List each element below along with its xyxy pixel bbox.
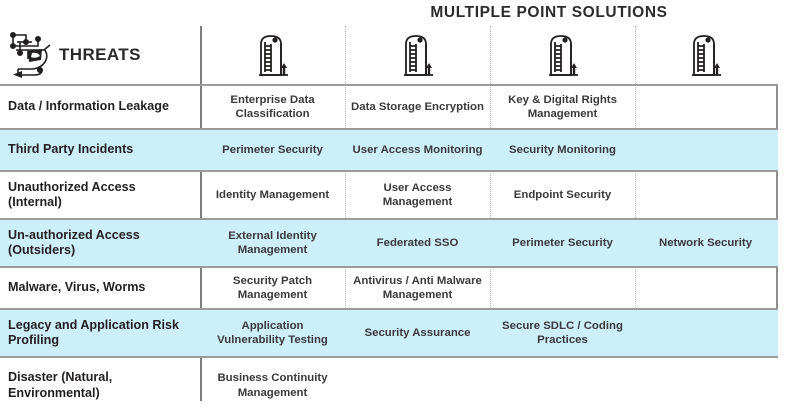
- page-title: MULTIPLE POINT SOLUTIONS: [404, 4, 694, 22]
- solution-cell[interactable]: Enterprise Data Classification: [200, 86, 345, 128]
- solution-label: Security Monitoring: [496, 143, 629, 157]
- solution-cell[interactable]: Security Patch Management: [200, 268, 345, 308]
- solution-column-header-4: [635, 26, 776, 84]
- solution-cell[interactable]: Federated SSO: [345, 220, 490, 266]
- solution-cell: [635, 86, 776, 128]
- matrix-body: Data / Information LeakageEnterprise Dat…: [0, 84, 778, 413]
- table-row[interactable]: Malware, Virus, WormsSecurity Patch Mana…: [0, 266, 778, 308]
- solution-cell[interactable]: Endpoint Security: [490, 172, 635, 218]
- threat-label: Data / Information Leakage: [8, 99, 169, 114]
- solution-cell[interactable]: User Access Management: [345, 172, 490, 218]
- table-row[interactable]: Un-authorized Access (Outsiders)External…: [0, 218, 778, 266]
- solution-label: User Access Management: [351, 181, 484, 209]
- solution-label: Identity Management: [206, 188, 339, 202]
- threat-cell: Un-authorized Access (Outsiders): [0, 220, 200, 266]
- solution-cell[interactable]: Application Vulnerability Testing: [200, 310, 345, 356]
- solution-cell[interactable]: Data Storage Encryption: [345, 86, 490, 128]
- solution-label: Perimeter Security: [206, 143, 339, 157]
- solution-cell[interactable]: Security Assurance: [345, 310, 490, 356]
- solution-label: Key & Digital Rights Management: [496, 93, 629, 121]
- silo-icon: [401, 32, 435, 78]
- solution-cell: [635, 310, 776, 356]
- solution-cell[interactable]: User Access Monitoring: [345, 130, 490, 170]
- solution-label: Application Vulnerability Testing: [206, 319, 339, 347]
- solution-label: Security Patch Management: [206, 274, 339, 302]
- solution-cell[interactable]: Business Continuity Management: [200, 358, 345, 413]
- solution-cell[interactable]: Secure SDLC / Coding Practices: [490, 310, 635, 356]
- matrix-header-row: THREATS: [0, 26, 778, 84]
- threat-cell: Legacy and Application Risk Profiling: [0, 310, 200, 356]
- table-row[interactable]: Data / Information LeakageEnterprise Dat…: [0, 84, 778, 128]
- threat-cell: Third Party Incidents: [0, 130, 200, 170]
- solution-cell: [490, 358, 635, 413]
- threats-header-label: THREATS: [59, 45, 141, 65]
- matrix-bottom-divider: [0, 356, 778, 358]
- solution-label: External Identity Management: [206, 229, 339, 257]
- solution-label: Secure SDLC / Coding Practices: [496, 319, 629, 347]
- solution-cell: [635, 358, 776, 413]
- solution-cell[interactable]: Security Monitoring: [490, 130, 635, 170]
- table-row[interactable]: Legacy and Application Risk ProfilingApp…: [0, 308, 778, 356]
- threat-cell: Malware, Virus, Worms: [0, 268, 200, 308]
- solution-label: Antivirus / Anti Malware Management: [351, 274, 484, 302]
- silo-icon: [689, 32, 723, 78]
- threat-label: Un-authorized Access (Outsiders): [8, 228, 192, 259]
- solution-cell[interactable]: Key & Digital Rights Management: [490, 86, 635, 128]
- solution-cell[interactable]: Antivirus / Anti Malware Management: [345, 268, 490, 308]
- threat-label: Malware, Virus, Worms: [8, 280, 145, 295]
- solution-column-header-3: [490, 26, 635, 84]
- threats-header-cell: THREATS: [0, 26, 200, 84]
- threat-cell: Disaster (Natural, Environmental): [0, 358, 200, 413]
- solution-cell[interactable]: Network Security: [635, 220, 776, 266]
- solution-label: Business Continuity Management: [206, 371, 339, 399]
- table-row[interactable]: Third Party IncidentsPerimeter SecurityU…: [0, 128, 778, 170]
- threat-label: Legacy and Application Risk Profiling: [8, 318, 192, 349]
- table-row[interactable]: Disaster (Natural, Environmental)Busines…: [0, 356, 778, 413]
- threat-label: Third Party Incidents: [8, 142, 133, 157]
- solution-label: User Access Monitoring: [351, 143, 484, 157]
- silo-icon: [546, 32, 580, 78]
- solution-cell[interactable]: Identity Management: [200, 172, 345, 218]
- solution-column-header-1: [200, 26, 345, 84]
- solution-cell[interactable]: External Identity Management: [200, 220, 345, 266]
- threat-cell: Unauthorized Access (Internal): [0, 172, 200, 218]
- solution-label: Enterprise Data Classification: [206, 93, 339, 121]
- solution-cell: [490, 268, 635, 308]
- solution-column-header-2: [345, 26, 490, 84]
- solution-cell[interactable]: Perimeter Security: [200, 130, 345, 170]
- table-row[interactable]: Unauthorized Access (Internal)Identity M…: [0, 170, 778, 218]
- threat-cell: Data / Information Leakage: [0, 86, 200, 128]
- solution-label: Data Storage Encryption: [351, 100, 484, 114]
- threat-label: Disaster (Natural, Environmental): [8, 370, 192, 401]
- solution-cell: [345, 358, 490, 413]
- solution-cell: [635, 172, 776, 218]
- solution-label: Network Security: [641, 236, 770, 250]
- solution-label: Security Assurance: [351, 326, 484, 340]
- solution-cell: [635, 130, 776, 170]
- solution-label: Perimeter Security: [496, 236, 629, 250]
- solution-cell: [635, 268, 776, 308]
- solution-cell[interactable]: Perimeter Security: [490, 220, 635, 266]
- network-threat-icon: [8, 29, 54, 81]
- multiple-point-solutions-matrix: MULTIPLE POINT SOLUTIONS: [0, 0, 800, 401]
- banner: MULTIPLE POINT SOLUTIONS: [0, 0, 800, 26]
- silo-icon: [256, 32, 290, 78]
- solution-label: Endpoint Security: [496, 188, 629, 202]
- threat-label: Unauthorized Access (Internal): [8, 180, 192, 211]
- solution-label: Federated SSO: [351, 236, 484, 250]
